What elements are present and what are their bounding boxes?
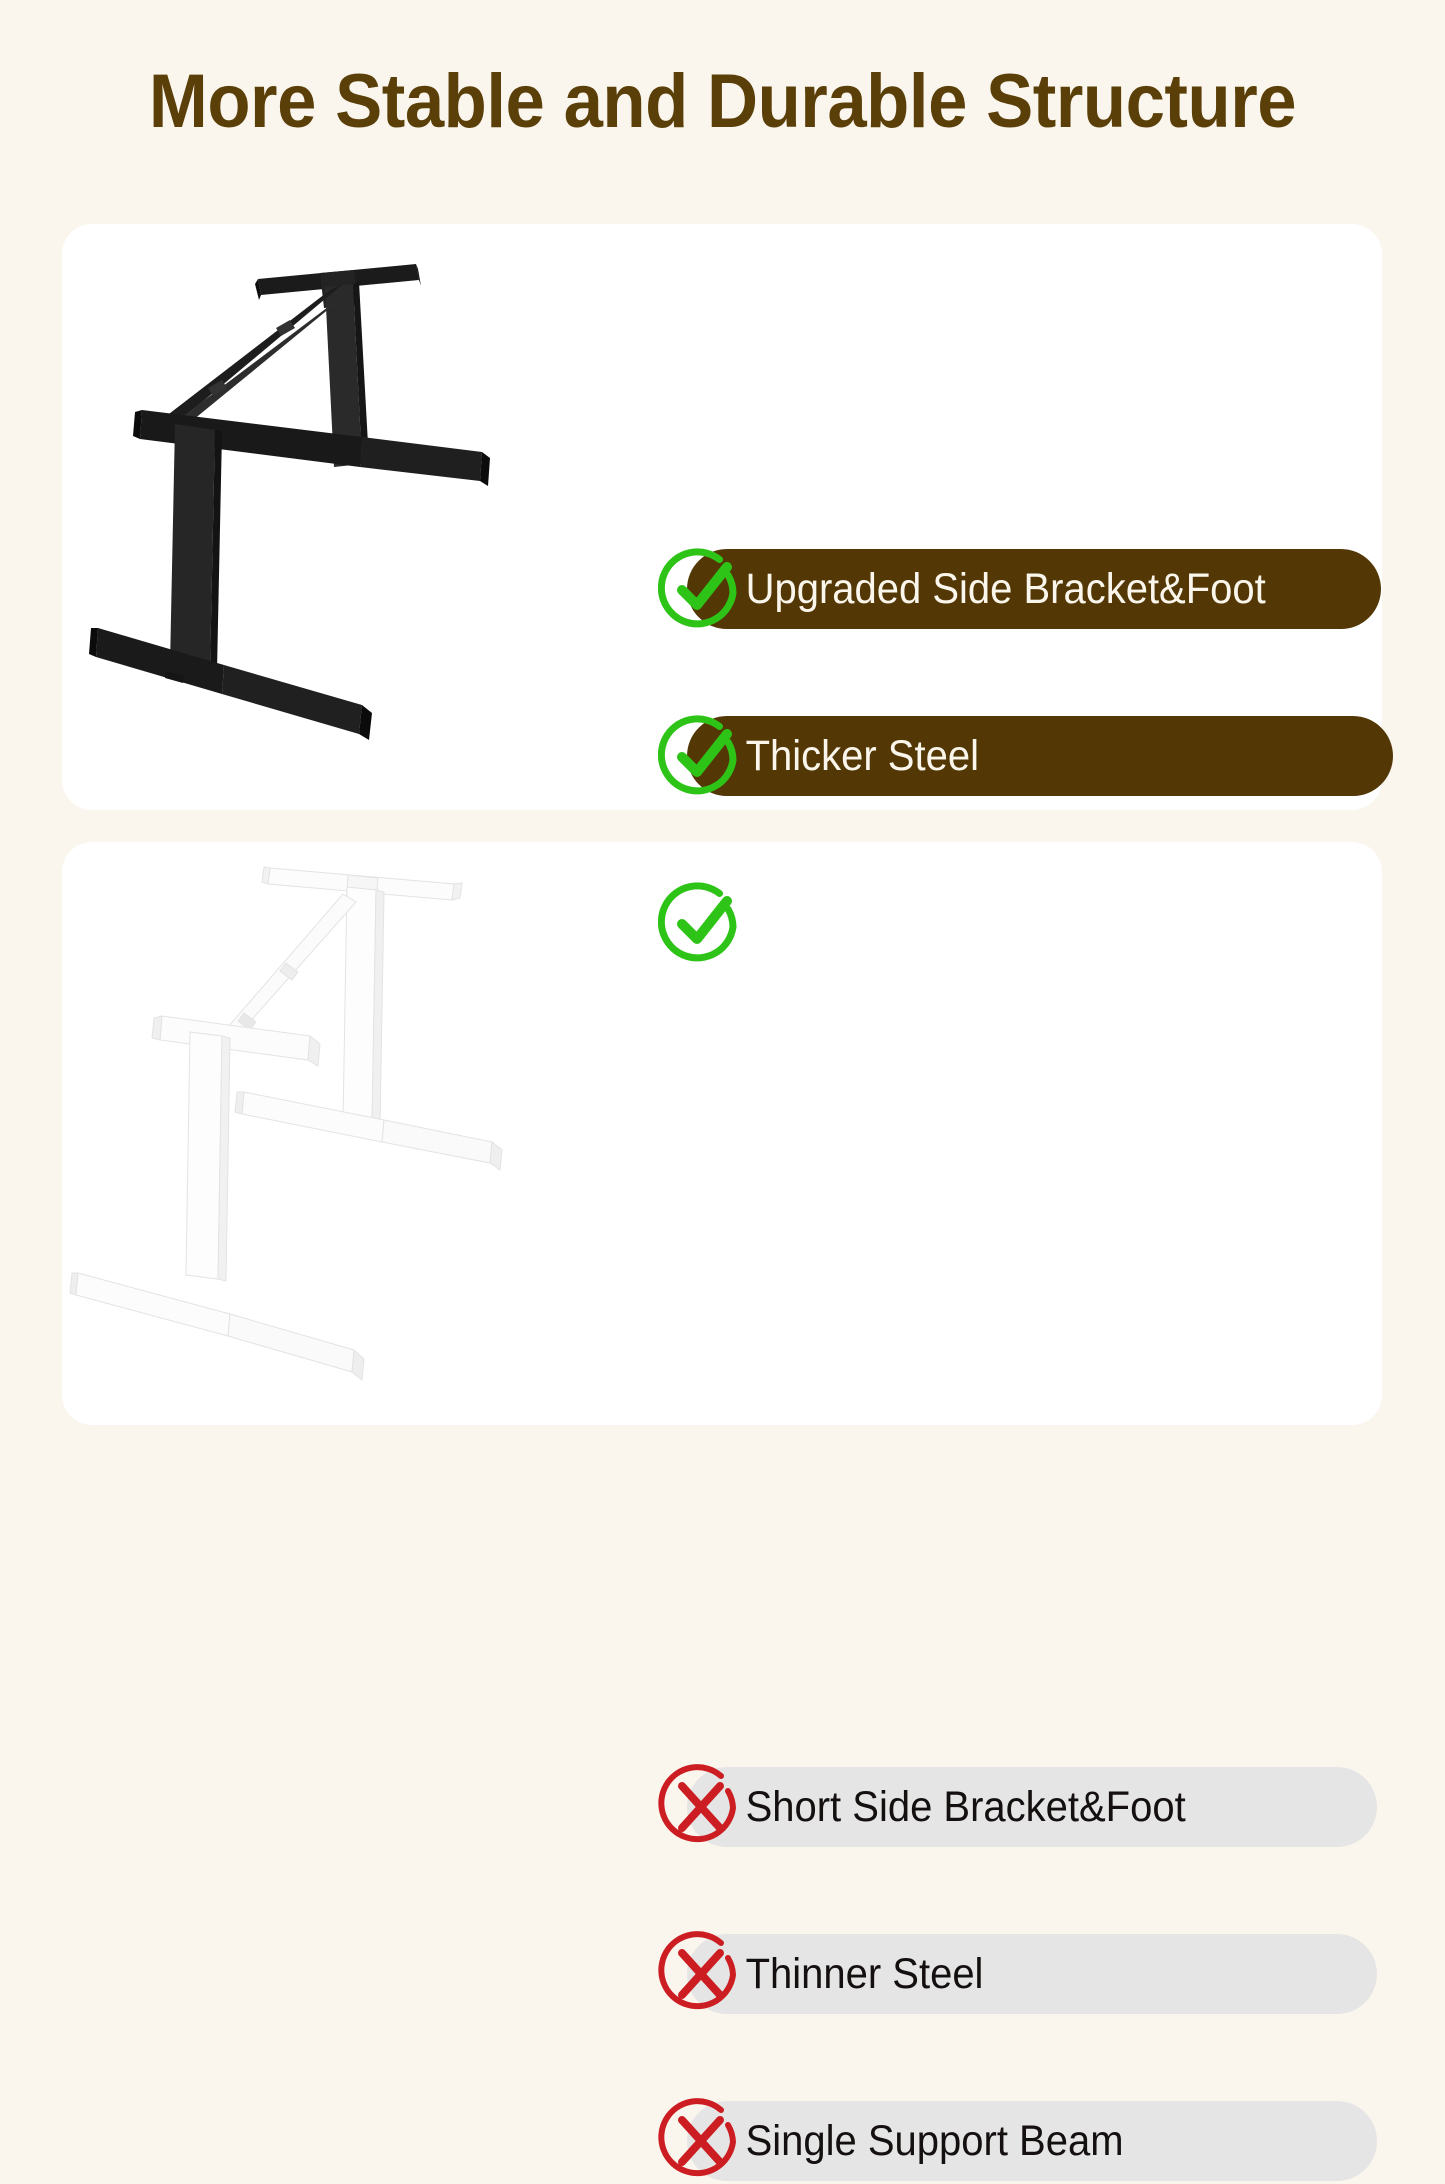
feature-label: Thicker Steel xyxy=(687,735,979,778)
drawback-label: Thinner Steel xyxy=(687,1953,983,1996)
drawback-pill-thinner-steel[interactable]: Thinner Steel xyxy=(687,1934,1377,2014)
drawback-label: Single Support Beam xyxy=(687,2120,1124,2163)
feature-pill-thicker-steel[interactable]: Thicker Steel xyxy=(687,716,1393,796)
bad-comparison-card: Short Side Bracket&Foot Thinner Steel xyxy=(62,842,1382,1425)
good-comparison-card: Upgraded Side Bracket&Foot Thicker Steel xyxy=(62,224,1382,810)
page-title: More Stable and Durable Structure xyxy=(51,64,1395,140)
feature-pill-upgraded-side-bracket[interactable]: Upgraded Side Bracket&Foot xyxy=(687,549,1381,629)
white-desk-frame-illustration xyxy=(62,842,602,1425)
feature-label: Upgraded Side Bracket&Foot xyxy=(687,568,1266,611)
drawback-pill-short-side-bracket[interactable]: Short Side Bracket&Foot xyxy=(687,1767,1377,1847)
drawback-pill-single-support-beam[interactable]: Single Support Beam xyxy=(687,2101,1377,2181)
drawback-label: Short Side Bracket&Foot xyxy=(687,1786,1186,1829)
black-desk-frame-illustration xyxy=(62,224,602,810)
